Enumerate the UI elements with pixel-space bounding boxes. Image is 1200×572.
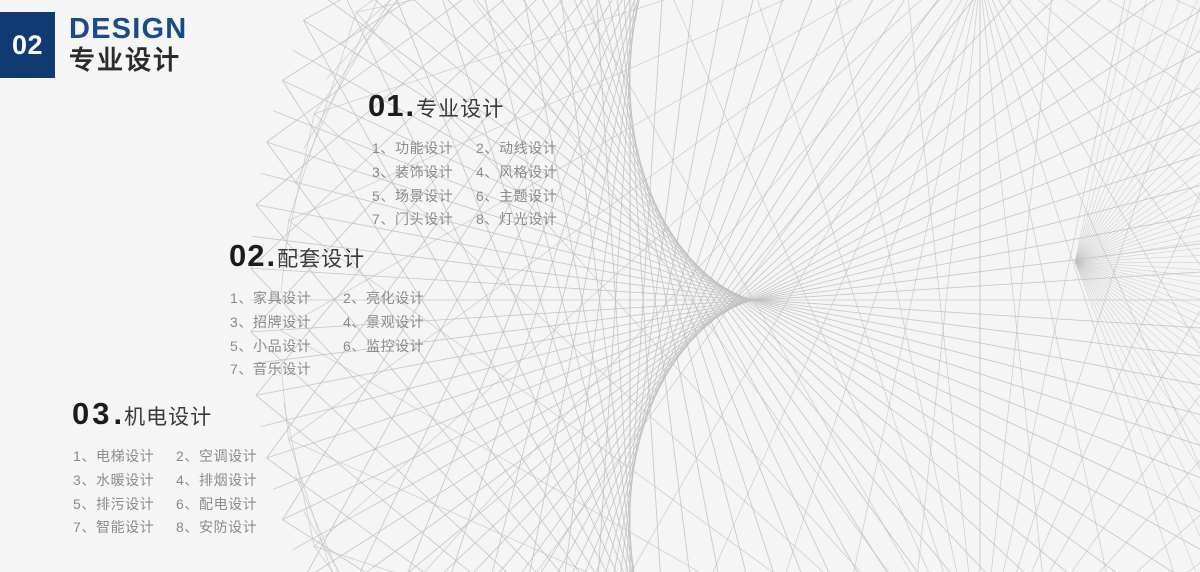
decorative-line [289, 440, 357, 572]
decorative-line [943, 0, 1089, 572]
decorative-line [1075, 113, 1200, 262]
decorative-line [695, 114, 1200, 572]
decorative-line [1075, 262, 1200, 519]
decorative-line [256, 395, 1058, 572]
decorative-line [303, 0, 1152, 20]
decorative-line [295, 476, 413, 572]
list-row: 5、小品设计 6、监控设计 [230, 335, 424, 359]
decorative-line [1075, 262, 1200, 572]
decorative-line [603, 0, 687, 572]
decorative-line [551, 0, 806, 572]
decorative-line [907, 0, 1196, 572]
decorative-line [1075, 262, 1200, 572]
list-row: 7、门头设计 8、灯光设计 [372, 208, 557, 232]
decorative-line [1075, 0, 1200, 262]
list-row: 1、电梯设计 2、空调设计 [73, 445, 257, 469]
decorative-line [599, 0, 1200, 221]
decorative-line [729, 0, 1200, 572]
decorative-line [1075, 262, 1200, 572]
decorative-line [1075, 0, 1200, 262]
decorative-line [1075, 262, 1200, 572]
decorative-line [456, 0, 1058, 572]
decorative-line [1075, 0, 1200, 262]
decorative-line [871, 0, 1200, 572]
section-01: 01 . 专业设计 1、功能设计 2、动线设计 3、装饰设计 4、风格设计 5、… [368, 90, 557, 232]
decorative-line [526, 0, 868, 572]
section-03: 03 . 机电设计 1、电梯设计 2、空调设计 3、水暖设计 4、排烟设计 5、… [72, 398, 257, 540]
list-item: 1、功能设计 [372, 137, 476, 161]
decorative-line [304, 511, 485, 572]
list-row: 3、装饰设计 4、风格设计 [372, 161, 557, 185]
list-item: 6、主题设计 [476, 185, 557, 209]
decorative-line [907, 0, 1196, 572]
section-03-dot: . [113, 398, 122, 429]
list-item: 7、智能设计 [73, 516, 176, 540]
decorative-line [341, 0, 764, 45]
list-row: 5、排污设计 6、配电设计 [73, 493, 257, 517]
decorative-line [289, 440, 1200, 572]
decorative-line [1075, 0, 1200, 262]
badge-number: 02 [12, 32, 43, 59]
decorative-line [662, 221, 1200, 572]
list-item: 5、小品设计 [230, 335, 343, 359]
decorative-line [1075, 0, 1200, 262]
list-item: 7、音乐设计 [230, 358, 343, 382]
section-03-title: 机电设计 [124, 407, 212, 428]
decorative-line [1075, 262, 1200, 419]
decorative-line [662, 0, 1089, 572]
section-03-list: 1、电梯设计 2、空调设计 3、水暖设计 4、排烟设计 5、排污设计 6、配电设… [73, 445, 257, 540]
decorative-line [501, 0, 930, 572]
list-item: 2、动线设计 [476, 137, 557, 161]
decorative-line [395, 0, 1200, 572]
decorative-line [764, 0, 1200, 572]
list-item: 7、门头设计 [372, 208, 476, 232]
list-item: 2、空调设计 [176, 445, 257, 469]
decorative-line [435, 0, 1121, 572]
list-item: 3、水暖设计 [73, 469, 176, 493]
decorative-line [576, 0, 658, 572]
decorative-line [478, 0, 994, 572]
decorative-line [569, 0, 1200, 114]
decorative-line [267, 0, 931, 458]
decorative-line [1075, 0, 1200, 262]
decorative-line [1075, 262, 1200, 469]
list-item: 8、灯光设计 [476, 208, 557, 232]
decorative-line [414, 0, 1197, 572]
decorative-line [478, 0, 994, 572]
section-03-number: 03 [72, 398, 112, 429]
decorative-line [526, 0, 687, 572]
section-badge: 02 [0, 12, 55, 78]
decorative-line [1075, 262, 1200, 572]
decorative-line [478, 0, 715, 572]
list-item: 6、配电设计 [176, 493, 257, 517]
decorative-line [292, 0, 1200, 550]
decorative-line [1090, 0, 1200, 12]
decorative-line [871, 0, 1200, 572]
decorative-line [630, 0, 1200, 330]
section-01-title: 专业设计 [416, 99, 504, 120]
section-03-heading: 03 . 机电设计 [72, 398, 257, 429]
decorative-line [1075, 262, 1200, 572]
decorative-line [284, 403, 314, 546]
list-row: 7、智能设计 8、安防设计 [73, 516, 257, 540]
list-row: 3、水暖设计 4、排烟设计 [73, 469, 257, 493]
decorative-line [662, 0, 1200, 440]
decorative-line [1075, 262, 1200, 572]
decorative-line [1075, 215, 1200, 262]
decorative-line [1075, 0, 1200, 262]
decorative-line [576, 0, 745, 572]
list-row: 7、音乐设计 [230, 358, 424, 382]
decorative-line [1075, 0, 1200, 262]
decorative-line [871, 0, 1017, 572]
decorative-line [501, 0, 930, 572]
decorative-line [1075, 262, 1200, 572]
list-item: 2、亮化设计 [343, 287, 424, 311]
decorative-line [1075, 262, 1200, 368]
slide-root: 02 DESIGN 专业设计 01 . 专业设计 1、功能设计 2、动线设计 3… [0, 0, 1200, 572]
decorative-line [435, 0, 745, 572]
decorative-line [435, 0, 1121, 572]
list-item: 3、招牌设计 [230, 311, 343, 335]
decorative-line [1075, 262, 1200, 572]
decorative-line [1075, 0, 1200, 262]
section-02-heading: 02 . 配套设计 [229, 240, 424, 271]
decorative-line [764, 0, 1200, 572]
decorative-line [576, 0, 745, 572]
decorative-line [456, 0, 1058, 572]
list-row: 5、场景设计 6、主题设计 [372, 185, 557, 209]
list-row: 3、招牌设计 4、景观设计 [230, 311, 424, 335]
decorative-line [1075, 0, 1200, 262]
list-item: 3、装饰设计 [372, 161, 476, 185]
decorative-line [1075, 0, 1200, 262]
decorative-line [526, 0, 868, 572]
decorative-line [1075, 262, 1200, 266]
section-02-dot: . [266, 240, 275, 271]
decorative-line [1075, 262, 1200, 567]
list-item: 1、电梯设计 [73, 445, 176, 469]
decorative-line [414, 0, 1183, 572]
decorative-line [526, 0, 687, 572]
decorative-line [1075, 262, 1200, 572]
decorative-line [414, 0, 1197, 572]
decorative-line [314, 546, 1200, 572]
decorative-line [360, 0, 806, 572]
decorative-line [1075, 164, 1200, 262]
decorative-line [326, 0, 662, 79]
decorative-line [695, 0, 1200, 546]
decorative-line [871, 0, 1017, 572]
section-02: 02 . 配套设计 1、家具设计 2、亮化设计 3、招牌设计 4、景观设计 5、… [229, 240, 424, 382]
decorative-line [1075, 262, 1200, 572]
decorative-line [316, 0, 1200, 572]
decorative-line [377, 0, 1200, 572]
decorative-line [1075, 0, 1200, 262]
decorative-line [799, 0, 1200, 572]
decorative-line [630, 330, 1200, 572]
decorative-line [599, 440, 1200, 572]
list-item: 4、景观设计 [343, 311, 424, 335]
section-01-dot: . [405, 90, 414, 121]
decorative-line [377, 0, 1200, 572]
decorative-line [395, 0, 775, 572]
decorative-line [395, 0, 1200, 572]
decorative-line [1075, 262, 1200, 572]
decorative-line [360, 0, 806, 572]
decorative-line [356, 0, 1200, 572]
list-item: 5、场景设计 [372, 185, 476, 209]
section-01-heading: 01 . 专业设计 [368, 90, 557, 121]
decorative-line [251, 0, 1026, 268]
decorative-line [603, 0, 687, 572]
list-item: 6、监控设计 [343, 335, 424, 359]
decorative-line [267, 458, 1090, 572]
decorative-line [344, 0, 1200, 572]
decorative-line [316, 0, 1200, 572]
decorative-line [360, 0, 1200, 572]
decorative-line [551, 0, 806, 572]
decorative-line [1075, 0, 1200, 262]
decorative-line [799, 0, 1200, 572]
decorative-line [1075, 0, 1200, 262]
decorative-line [1075, 0, 1200, 262]
decorative-line [569, 0, 1126, 572]
decorative-line [289, 12, 357, 220]
decorative-line [569, 546, 1200, 572]
decorative-line [1075, 0, 1200, 262]
decorative-line [662, 0, 1089, 572]
decorative-line [414, 0, 1183, 572]
decorative-line [1075, 13, 1200, 262]
decorative-line [764, 0, 1053, 572]
decorative-line [485, 0, 1161, 572]
decorative-line [329, 0, 1200, 572]
section-02-list: 1、家具设计 2、亮化设计 3、招牌设计 4、景观设计 5、小品设计 6、监控设… [230, 287, 424, 382]
decorative-line [435, 0, 745, 572]
decorative-line [284, 114, 314, 257]
list-item: 4、风格设计 [476, 161, 557, 185]
decorative-line [289, 221, 1200, 572]
decorative-line [303, 0, 1200, 572]
decorative-line [539, 0, 1200, 12]
decorative-line [1075, 262, 1200, 572]
list-row: 1、功能设计 2、动线设计 [372, 137, 557, 161]
decorative-line [1075, 0, 1200, 262]
decorative-line [356, 0, 1200, 12]
decorative-line [576, 0, 658, 572]
decorative-line [356, 0, 870, 12]
list-item: 8、安防设计 [176, 516, 257, 540]
decorative-line [834, 0, 1200, 572]
decorative-line [1075, 262, 1200, 572]
decorative-line [1075, 63, 1200, 262]
list-item: 4、排烟设计 [176, 469, 257, 493]
section-02-title: 配套设计 [277, 249, 365, 270]
decorative-line [485, 0, 1161, 572]
header-text-group: DESIGN 专业设计 [69, 12, 187, 78]
section-01-number: 01 [368, 90, 404, 121]
decorative-line [1075, 262, 1200, 572]
decorative-line [282, 0, 1121, 80]
list-item: 1、家具设计 [230, 287, 343, 311]
list-item: 5、排污设计 [73, 493, 176, 517]
decorative-line [329, 0, 1200, 572]
list-row: 1、家具设计 2、亮化设计 [230, 287, 424, 311]
decorative-line [1196, 0, 1200, 45]
decorative-line [764, 0, 1053, 572]
decorative-line [1075, 0, 1200, 262]
decorative-line [314, 546, 568, 572]
section-02-number: 02 [229, 240, 265, 271]
decorative-line [1075, 262, 1200, 317]
decorative-line [282, 520, 1121, 572]
decorative-line [478, 0, 715, 572]
section-01-list: 1、功能设计 2、动线设计 3、装饰设计 4、风格设计 5、场景设计 6、主题设… [372, 137, 557, 232]
decorative-line [1075, 0, 1200, 262]
header-title-cn: 专业设计 [69, 46, 187, 76]
decorative-line [314, 0, 1200, 546]
decorative-line [943, 0, 1089, 572]
header-title-en: DESIGN [69, 14, 187, 44]
header: 02 DESIGN 专业设计 [0, 12, 187, 78]
decorative-line [344, 0, 1200, 572]
decorative-line [395, 0, 775, 572]
decorative-line [569, 0, 1126, 572]
decorative-line [834, 0, 1200, 572]
decorative-line [729, 12, 1200, 572]
decorative-line [360, 0, 1200, 572]
